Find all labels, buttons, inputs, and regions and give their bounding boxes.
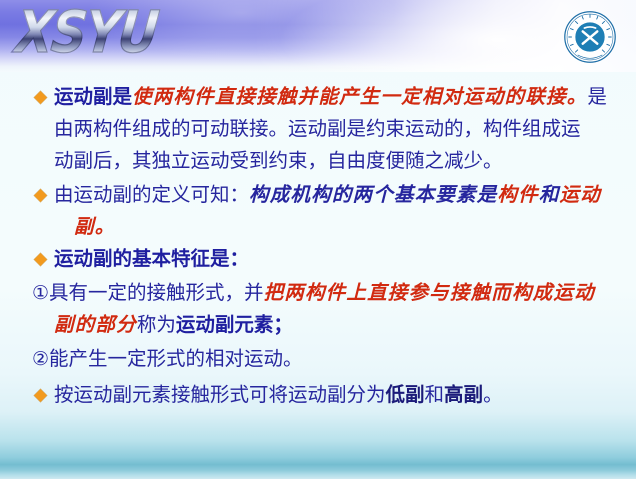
- text-run-l10e: 。: [483, 383, 503, 406]
- text-run-l10b: 低副: [386, 383, 425, 406]
- text-run-l8b: 称为: [137, 313, 176, 336]
- text-run-l10d: 高副: [444, 383, 483, 406]
- body-line-10: 按运动副元素接触形式可将运动副分为低副和高副。: [54, 385, 503, 405]
- text-run-l3: 动副后，其独立运动受到约束，自由度便随之减少。: [54, 149, 503, 172]
- text-run-l10c: 和: [425, 383, 445, 406]
- university-emblem-icon: [562, 9, 618, 65]
- text-run-l1b: 使两构件直接接触并能产生一定相对运动的联接。: [132, 85, 587, 108]
- body-line-3: 动副后，其独立运动受到约束，自由度便随之减少。: [54, 151, 503, 171]
- text-run-l7a: 具有一定的接触形式，并: [49, 281, 264, 304]
- text-run-l2: 由两构件组成的可动联接。运动副是约束运动的，构件组成运: [54, 117, 581, 140]
- slide-body: 运动副是使两构件直接接触并能产生一定相对运动的联接。是 由两构件组成的可动联接。…: [0, 74, 636, 414]
- wordmark-text: XSYU: [12, 0, 250, 70]
- text-run-l8c: 运动副元素；: [176, 313, 293, 336]
- list-marker-1: ①: [32, 282, 49, 304]
- body-line-4: 由运动副的定义可知：构成机构的两个基本要素是构件和运动: [54, 185, 601, 205]
- text-run-l10a: 按运动副元素接触形式可将运动副分为: [54, 383, 386, 406]
- xsyu-wordmark-logo: XSYU XSYU: [16, 2, 246, 68]
- body-line-7: ①具有一定的接触形式，并把两构件上直接参与接触而构成运动: [32, 283, 595, 304]
- text-run-l8a: 副的部分: [54, 313, 137, 336]
- text-run-l1a: 运动副是: [54, 85, 132, 108]
- body-line-8: 副的部分称为运动副元素；: [54, 315, 293, 335]
- text-run-l4e: 运动: [560, 183, 601, 206]
- text-run-l1c: 是: [587, 85, 607, 108]
- body-line-1: 运动副是使两构件直接接触并能产生一定相对运动的联接。是: [54, 87, 607, 107]
- text-run-l4d: 和: [539, 183, 560, 206]
- text-run-l6: 运动副的基本特征是：: [54, 247, 249, 270]
- bullet-diamond-4: [34, 389, 47, 402]
- body-line-2: 由两构件组成的可动联接。运动副是约束运动的，构件组成运: [54, 119, 581, 139]
- bullet-diamond-3: [34, 253, 47, 266]
- text-run-l4b: 构成机构的两个基本要素是: [249, 183, 497, 206]
- text-run-l5: 副。: [74, 215, 115, 238]
- presentation-slide: XSYU XSYU: [0, 0, 636, 479]
- slide-header-banner: XSYU XSYU: [0, 0, 636, 72]
- text-run-l4c: 构件: [497, 183, 538, 206]
- body-line-6: 运动副的基本特征是：: [54, 249, 249, 269]
- text-run-l7b: 把两构件上直接参与接触而构成运动: [264, 281, 595, 304]
- body-line-9: ②能产生一定形式的相对运动。: [32, 349, 303, 370]
- text-run-l4a: 由运动副的定义可知：: [54, 183, 249, 206]
- body-line-5: 副。: [74, 217, 115, 237]
- bullet-diamond-1: [34, 91, 47, 104]
- text-run-l9a: 能产生一定形式的相对运动。: [49, 347, 303, 370]
- bullet-diamond-2: [34, 189, 47, 202]
- list-marker-2: ②: [32, 348, 49, 370]
